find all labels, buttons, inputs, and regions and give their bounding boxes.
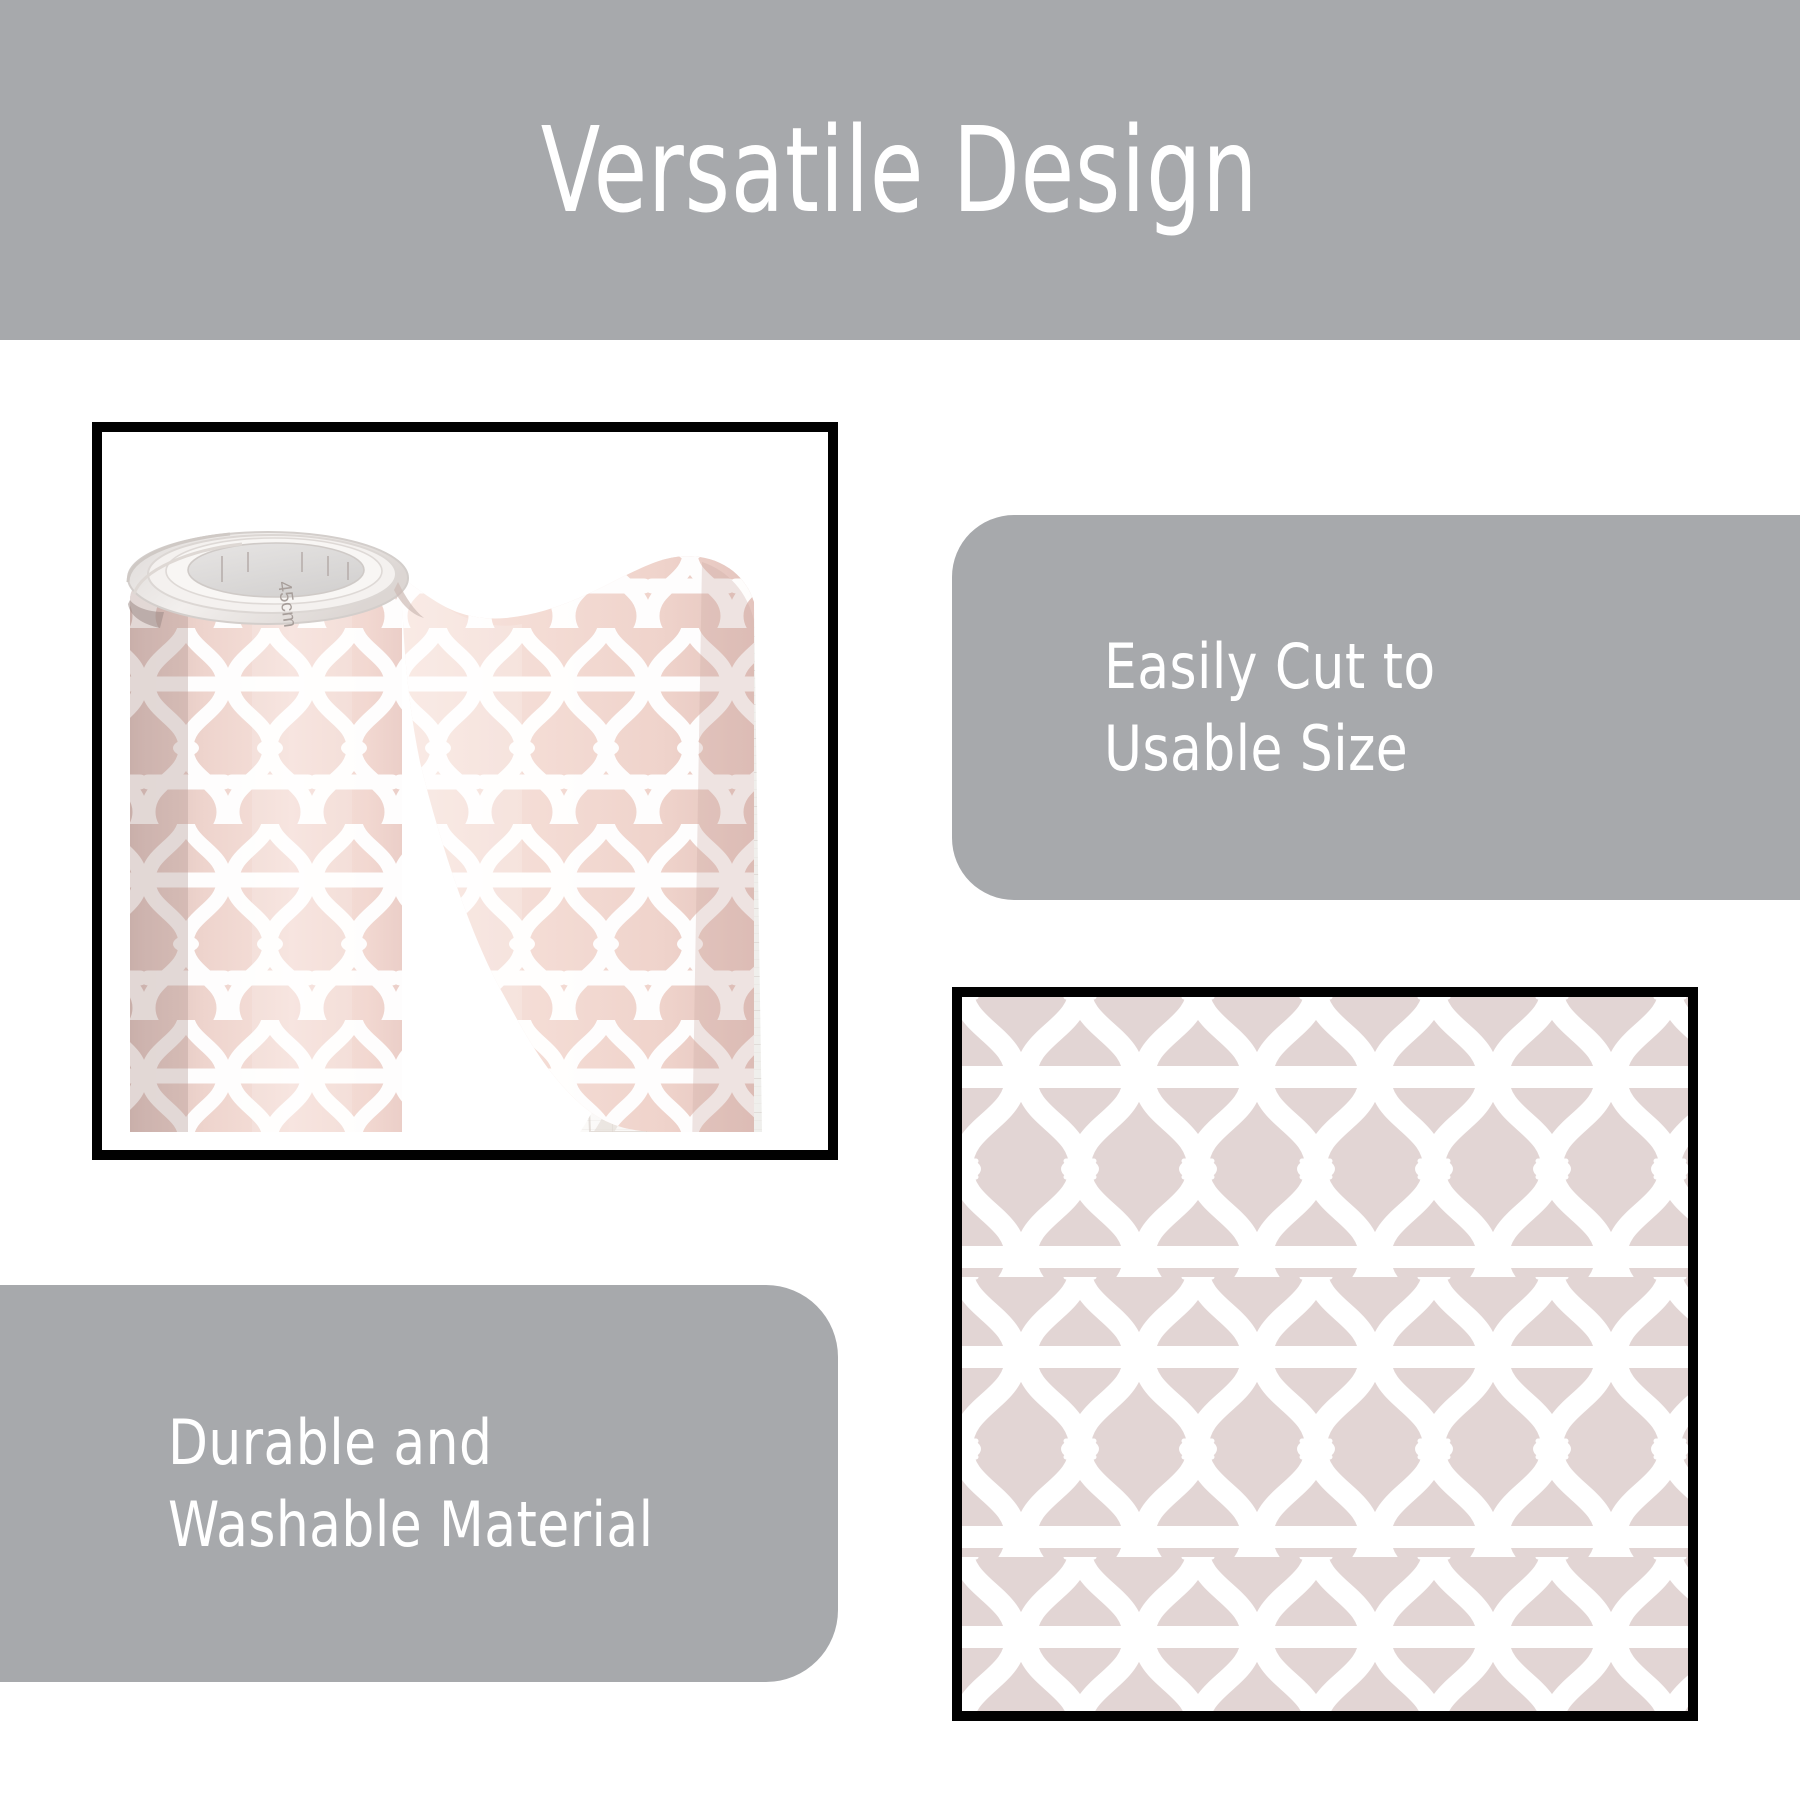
page-title: Versatile Design (541, 111, 1259, 229)
callout-easily-cut: Easily Cut to Usable Size (952, 515, 1800, 900)
roll-body (112, 542, 422, 1150)
callout-durable-washable: Durable and Washable Material (0, 1285, 838, 1682)
header-band: Versatile Design (0, 0, 1800, 340)
infographic-canvas: Versatile Design (0, 0, 1800, 1800)
pattern-swatch (962, 997, 1688, 1711)
callout-line: Easily Cut to (1104, 626, 1800, 708)
product-photo-frame: 24cm 23cm 22cm (92, 422, 838, 1160)
pattern-swatch-frame (952, 987, 1698, 1721)
callout-line: Usable Size (1104, 708, 1800, 790)
roll-svg: 24cm 23cm 22cm (102, 432, 828, 1150)
quatrefoil-pattern-svg (962, 997, 1688, 1711)
callout-line: Washable Material (168, 1484, 791, 1566)
callout-line: Durable and (168, 1402, 791, 1484)
shelf-liner-roll-illustration: 24cm 23cm 22cm (102, 432, 828, 1150)
product-photo: 24cm 23cm 22cm (102, 432, 828, 1150)
